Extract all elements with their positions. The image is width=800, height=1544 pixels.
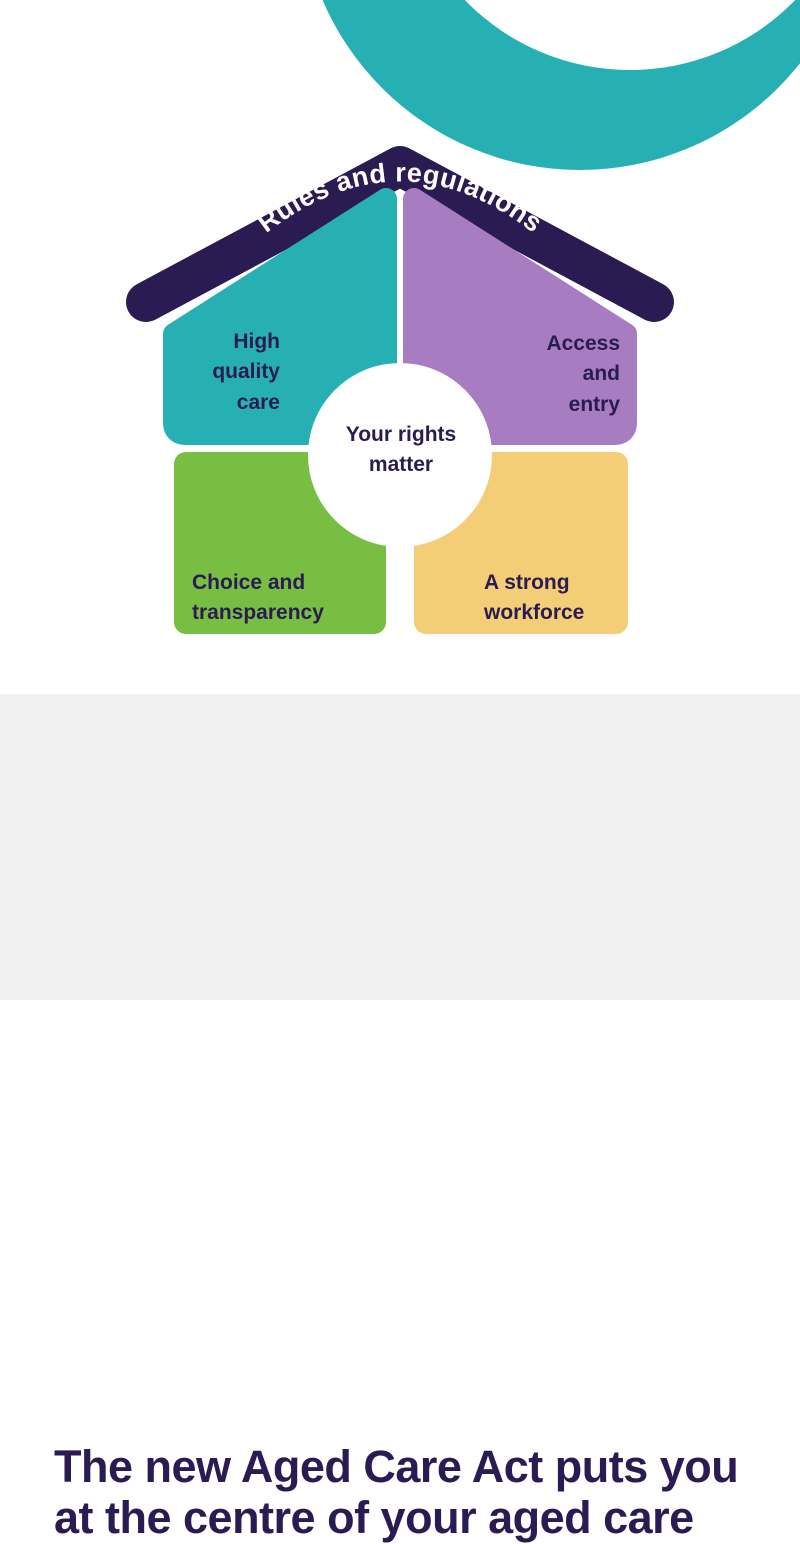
quadrant-label-high-quality-care: High quality care [100, 327, 280, 418]
quadrant-label-access-and-entry: Access and entry [500, 329, 620, 420]
footer-band: The new Aged Care Act puts you at the ce… [0, 694, 800, 1000]
footer-headline: The new Aged Care Act puts you at the ce… [54, 1442, 754, 1544]
quadrant-label-a-strong-workforce: A strong workforce [484, 568, 704, 629]
hero-panel: Rules and regulations High quality care … [0, 0, 800, 694]
center-circle-label: Your rights matter [312, 420, 490, 481]
house-framework-diagram: Rules and regulations High quality care … [0, 0, 800, 694]
quadrant-label-choice-and-transparency: Choice and transparency [192, 568, 432, 629]
